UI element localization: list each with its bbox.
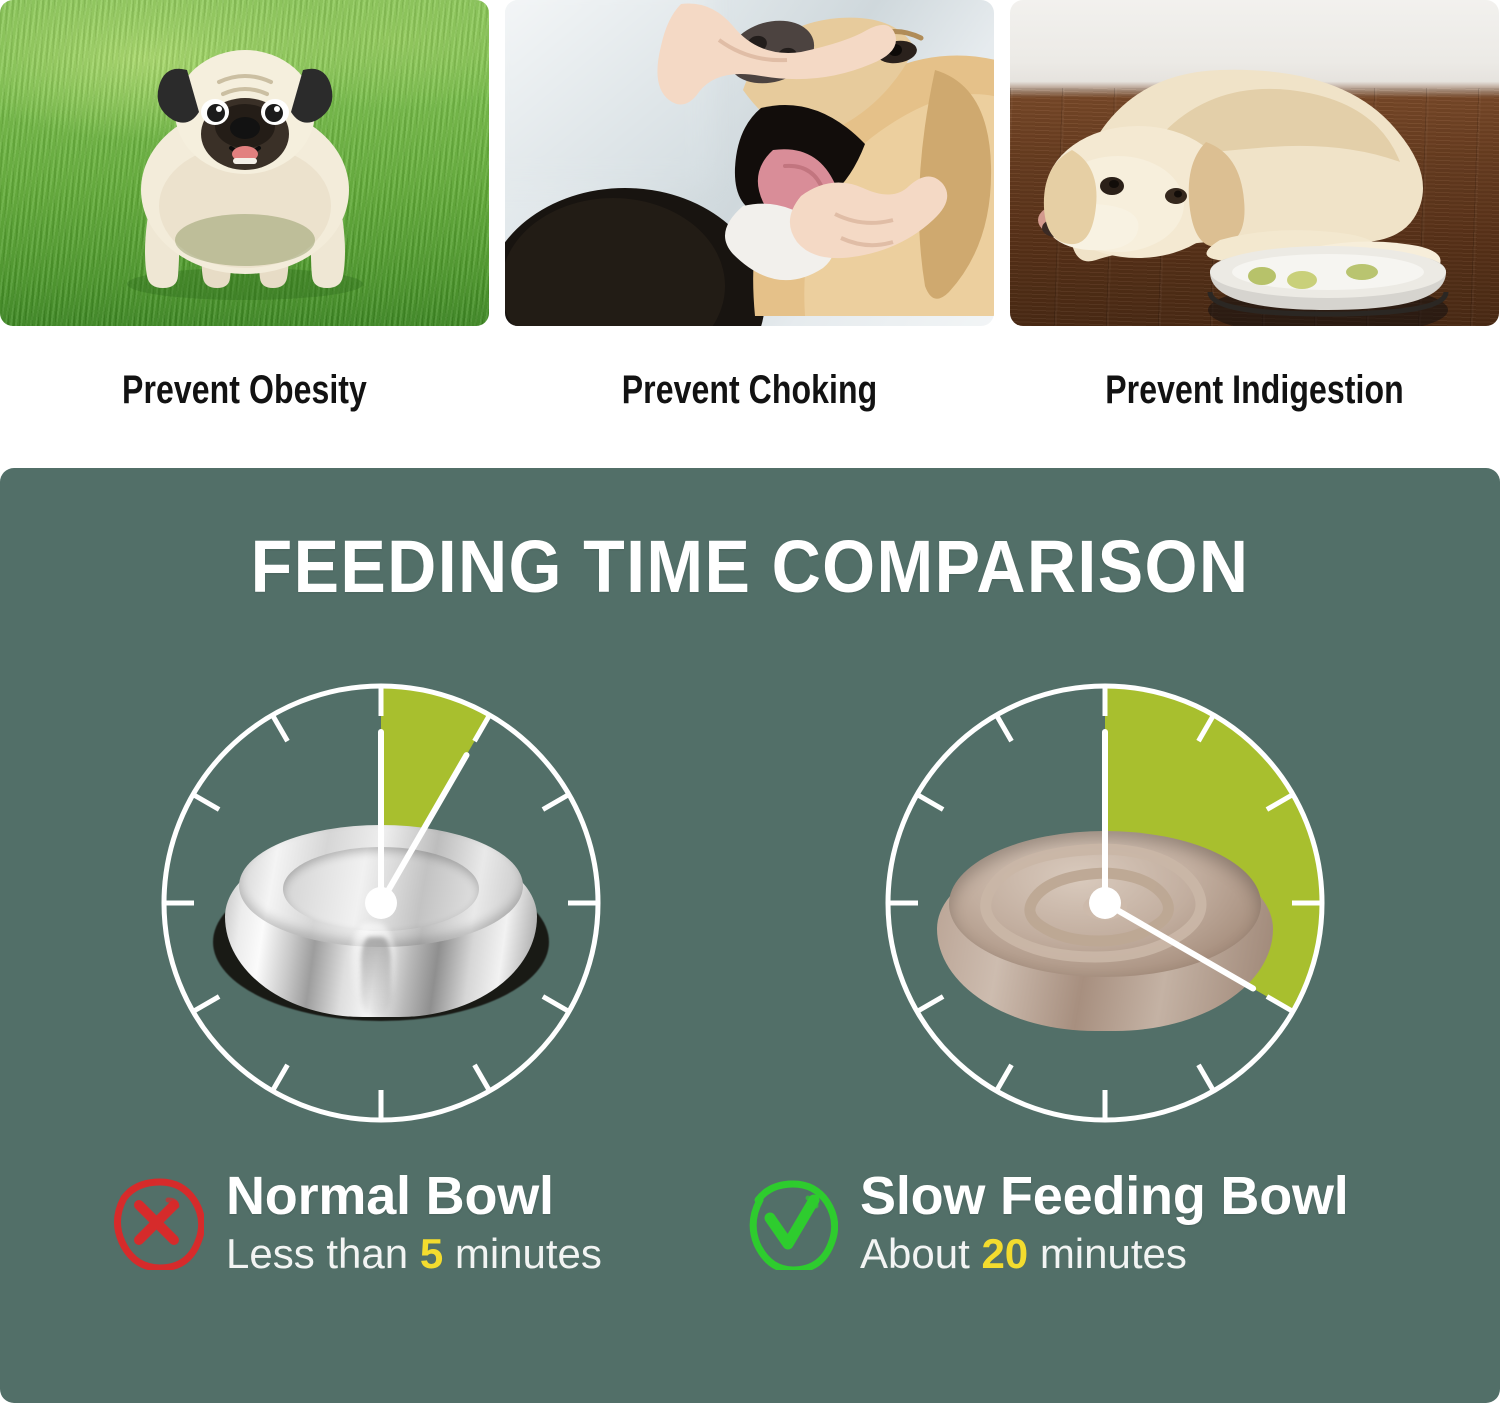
normal-bowl-clock-hands <box>146 668 616 1138</box>
clock-comparison-row <box>0 668 1500 1138</box>
result-subtitle: About 20 minutes <box>860 1232 1349 1277</box>
benefit-photo-prevent-indigestion <box>1010 0 1499 326</box>
result-normal-bowl-text: Normal Bowl Less than 5 minutes <box>226 1168 602 1277</box>
clock-center-hub <box>365 887 397 919</box>
benefit-photo-prevent-choking <box>505 0 994 326</box>
result-title: Normal Bowl <box>226 1168 602 1224</box>
result-normal-bowl: Normal Bowl Less than 5 minutes <box>108 1168 602 1277</box>
normal-bowl-clock <box>146 668 616 1138</box>
elapsed-hand <box>381 755 467 903</box>
result-subtitle: Less than 5 minutes <box>226 1232 602 1277</box>
dog-mouth-exam-illustration <box>505 0 994 326</box>
benefit-caption-prevent-obesity: Prevent Obesity <box>49 368 440 413</box>
benefit-photo-prevent-obesity <box>0 0 489 326</box>
result-title: Slow Feeding Bowl <box>860 1168 1349 1224</box>
benefit-photo-strip <box>0 0 1500 326</box>
result-slow-feeding-bowl: Slow Feeding Bowl About 20 minutes <box>742 1168 1349 1277</box>
panel-title: FEEDING TIME COMPARISON <box>60 524 1440 609</box>
clock-center-hub <box>1089 887 1121 919</box>
feeding-time-comparison-panel: FEEDING TIME COMPARISON <box>0 468 1500 1403</box>
slow-feeding-bowl-clock-hands <box>870 668 1340 1138</box>
elapsed-hand <box>1105 903 1253 989</box>
comparison-result-labels: Normal Bowl Less than 5 minutes Slow Fee… <box>0 1168 1500 1328</box>
circled-check-icon <box>742 1174 838 1270</box>
result-sub-value: 20 <box>981 1230 1028 1277</box>
circled-cross-icon <box>108 1174 204 1270</box>
benefit-caption-prevent-choking: Prevent Choking <box>554 368 945 413</box>
overweight-pug-illustration <box>95 40 395 300</box>
benefit-caption-prevent-indigestion: Prevent Indigestion <box>1059 368 1450 413</box>
labrador-beside-bowl-illustration <box>1010 0 1499 326</box>
result-sub-suffix: minutes <box>1028 1230 1187 1277</box>
slow-feeding-bowl-clock <box>870 668 1340 1138</box>
result-sub-prefix: About <box>860 1230 981 1277</box>
result-sub-value: 5 <box>420 1230 443 1277</box>
result-sub-suffix: minutes <box>443 1230 602 1277</box>
result-sub-prefix: Less than <box>226 1230 420 1277</box>
result-slow-feeding-bowl-text: Slow Feeding Bowl About 20 minutes <box>860 1168 1349 1277</box>
benefit-captions-row: Prevent Obesity Prevent Choking Prevent … <box>0 326 1500 454</box>
